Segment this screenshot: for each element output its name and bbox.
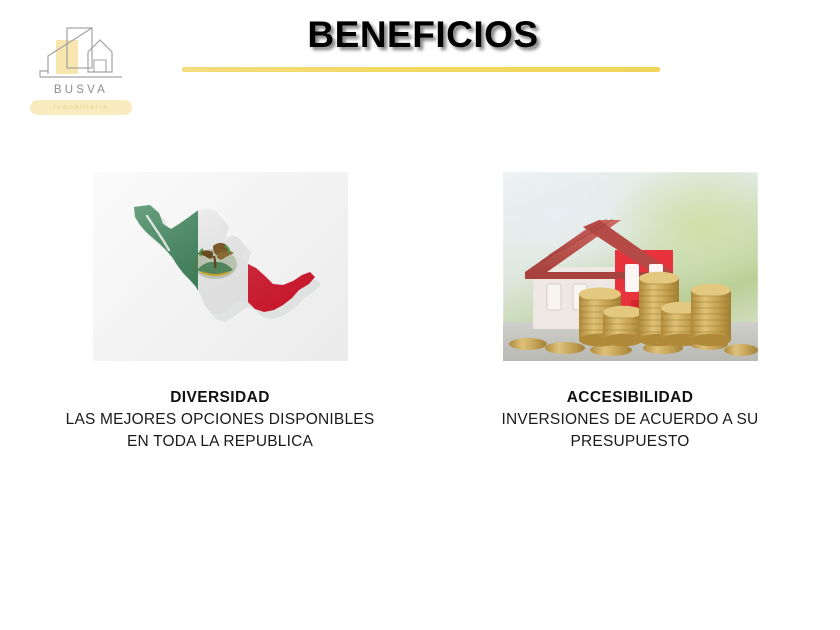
logo-tagline-band: Inmobiliaria xyxy=(30,100,132,115)
benefit-item-diversidad: DIVERSIDAD LAS MEJORES OPCIONES DISPONIB… xyxy=(30,172,410,453)
building-outline-icon xyxy=(26,22,136,84)
logo: BUSVA Inmobiliaria xyxy=(26,22,136,122)
benefit-description-line-1: LAS MEJORES OPCIONES DISPONIBLES xyxy=(30,409,410,431)
benefit-item-accesibilidad: ACCESIBILIDAD INVERSIONES DE ACUERDO A S… xyxy=(440,172,820,453)
benefit-description-line-2: EN TODA LA REPUBLICA xyxy=(30,431,410,453)
page-title: BENEFICIOS xyxy=(180,14,666,56)
logo-name: BUSVA xyxy=(26,84,136,96)
mexico-map-flag-photo xyxy=(93,172,348,361)
title-underline-rule xyxy=(182,67,660,72)
benefit-caption-diversidad: DIVERSIDAD LAS MEJORES OPCIONES DISPONIB… xyxy=(30,387,410,453)
benefit-description-line-1: INVERSIONES DE ACUERDO A SU xyxy=(440,409,820,431)
benefit-heading: DIVERSIDAD xyxy=(30,387,410,409)
slide-root: BUSVA Inmobiliaria BENEFICIOS xyxy=(0,0,840,630)
benefit-description-line-2: PRESUPUESTO xyxy=(440,431,820,453)
benefit-heading: ACCESIBILIDAD xyxy=(440,387,820,409)
logo-tagline: Inmobiliaria xyxy=(54,105,109,111)
house-and-coins-photo xyxy=(503,172,758,361)
benefit-caption-accesibilidad: ACCESIBILIDAD INVERSIONES DE ACUERDO A S… xyxy=(440,387,820,453)
